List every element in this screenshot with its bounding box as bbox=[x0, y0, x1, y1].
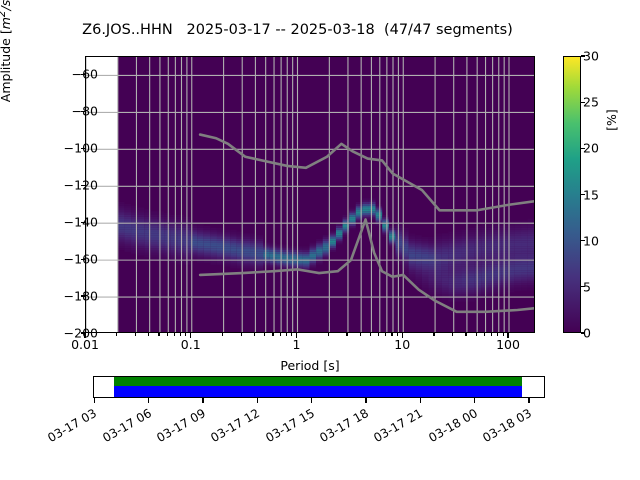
time-axis-tick-mark bbox=[474, 398, 475, 403]
x-axis-minor-tick-mark bbox=[433, 333, 434, 336]
x-axis-minor-tick-mark bbox=[291, 333, 292, 336]
ppsd-axes bbox=[85, 56, 535, 333]
time-axis-tick-mark bbox=[420, 398, 421, 403]
x-axis-minor-tick-mark bbox=[370, 333, 371, 336]
colorbar-tick-mark bbox=[581, 148, 585, 149]
x-axis-minor-tick-mark bbox=[264, 333, 265, 336]
time-axis-tick-label: 03-17 06 bbox=[100, 406, 154, 445]
time-axis-tick-mark bbox=[257, 398, 258, 403]
x-axis-minor-tick-mark bbox=[391, 333, 392, 336]
colorbar-tick-mark bbox=[581, 102, 585, 103]
time-axis-tick-label: 03-18 00 bbox=[426, 406, 480, 445]
x-axis-minor-tick-mark bbox=[385, 333, 386, 336]
x-axis-minor-tick-mark bbox=[280, 333, 281, 336]
x-axis-tick-label: 10 bbox=[394, 337, 410, 352]
y-axis-tick-mark bbox=[81, 259, 85, 260]
x-axis-tick-label: 100 bbox=[496, 337, 520, 352]
time-axis-tick-mark bbox=[148, 398, 149, 403]
y-axis-tick-mark bbox=[81, 222, 85, 223]
time-axis-tick-mark bbox=[528, 398, 529, 403]
colorbar-tick-mark bbox=[581, 332, 585, 333]
ppsd-heatmap bbox=[86, 57, 534, 332]
y-axis-tick-mark bbox=[81, 185, 85, 186]
x-axis-minor-tick-mark bbox=[167, 333, 168, 336]
time-axis-tick-label: 03-17 15 bbox=[263, 406, 317, 445]
x-axis-minor-tick-mark bbox=[135, 333, 136, 336]
colorbar-tick-label: 20 bbox=[583, 141, 599, 156]
colorbar-tick-label: 25 bbox=[583, 95, 599, 110]
time-axis-tick-label: 03-17 12 bbox=[209, 406, 263, 445]
colorbar-tick-label: 10 bbox=[583, 233, 599, 248]
x-axis-minor-tick-mark bbox=[484, 333, 485, 336]
y-axis-tick-mark bbox=[81, 74, 85, 75]
x-axis-minor-tick-mark bbox=[476, 333, 477, 336]
x-axis-minor-tick-mark bbox=[503, 333, 504, 336]
colorbar-tick-label: 15 bbox=[583, 187, 599, 202]
x-axis-minor-tick-mark bbox=[397, 333, 398, 336]
ppsd-figure: Z6.JOS..HHN 2025-03-17 -- 2025-03-18 (47… bbox=[0, 0, 640, 480]
time-axis-tick-label: 03-17 21 bbox=[372, 406, 426, 445]
y-axis-tick-mark bbox=[81, 111, 85, 112]
x-axis-minor-tick-mark bbox=[241, 333, 242, 336]
y-axis-tick-mark bbox=[81, 295, 85, 296]
colorbar-tick-mark bbox=[581, 240, 585, 241]
x-axis-label: Period [s] bbox=[85, 358, 535, 373]
x-axis-tick-mark bbox=[296, 333, 297, 338]
time-axis-tick-label: 03-18 03 bbox=[480, 406, 534, 445]
colorbar-label: [%] bbox=[604, 80, 619, 160]
x-axis-minor-tick-mark bbox=[286, 333, 287, 336]
x-axis-minor-tick-mark bbox=[452, 333, 453, 336]
x-axis-minor-tick-mark bbox=[360, 333, 361, 336]
time-axis-tick-mark bbox=[365, 398, 366, 403]
x-axis-minor-tick-mark bbox=[174, 333, 175, 336]
x-axis-minor-tick-mark bbox=[497, 333, 498, 336]
x-axis-minor-tick-mark bbox=[465, 333, 466, 336]
x-axis-minor-tick-mark bbox=[148, 333, 149, 336]
x-axis-tick-label: 0.01 bbox=[71, 337, 99, 352]
page-title: Z6.JOS..HHN 2025-03-17 -- 2025-03-18 (47… bbox=[0, 22, 595, 38]
colorbar-tick-label: 30 bbox=[583, 49, 599, 64]
y-axis-tick-mark bbox=[81, 148, 85, 149]
x-axis-minor-tick-mark bbox=[272, 333, 273, 336]
x-axis-tick-mark bbox=[507, 333, 508, 338]
colorbar bbox=[563, 56, 581, 333]
time-axis-tick-mark bbox=[94, 398, 95, 403]
y-axis-label: Amplitude [m2/s4/Hz] [dB] bbox=[0, 0, 13, 120]
colorbar-tick-mark bbox=[581, 286, 585, 287]
x-axis-minor-tick-mark bbox=[491, 333, 492, 336]
colorbar-tick-mark bbox=[581, 55, 585, 56]
time-axis-tick-mark bbox=[311, 398, 312, 403]
x-axis-tick-label: 1 bbox=[293, 337, 301, 352]
x-axis-minor-tick-mark bbox=[180, 333, 181, 336]
colorbar-tick-mark bbox=[581, 194, 585, 195]
x-axis-tick-label: 0.1 bbox=[181, 337, 201, 352]
x-axis-minor-tick-mark bbox=[254, 333, 255, 336]
time-axis-tick-mark bbox=[202, 398, 203, 403]
x-axis-minor-tick-mark bbox=[378, 333, 379, 336]
y-axis-label-text: Amplitude [m2/s4/Hz] [dB] bbox=[0, 0, 13, 102]
time-axis-tick-label: 03-17 09 bbox=[154, 406, 208, 445]
time-axis-tick-label: 03-17 18 bbox=[317, 406, 371, 445]
x-axis-tick-mark bbox=[402, 333, 403, 338]
x-axis-tick-mark bbox=[84, 333, 85, 338]
x-axis-minor-tick-mark bbox=[158, 333, 159, 336]
x-axis-minor-tick-mark bbox=[346, 333, 347, 336]
x-axis-tick-mark bbox=[190, 333, 191, 338]
coverage-segment-green bbox=[114, 377, 522, 386]
x-axis-minor-tick-mark bbox=[222, 333, 223, 336]
x-axis-minor-tick-mark bbox=[185, 333, 186, 336]
x-axis-minor-tick-mark bbox=[116, 333, 117, 336]
time-axis-tick-label: 03-17 03 bbox=[45, 406, 99, 445]
coverage-bar bbox=[93, 376, 545, 398]
x-axis-minor-tick-mark bbox=[328, 333, 329, 336]
coverage-segment-blue bbox=[114, 386, 522, 397]
